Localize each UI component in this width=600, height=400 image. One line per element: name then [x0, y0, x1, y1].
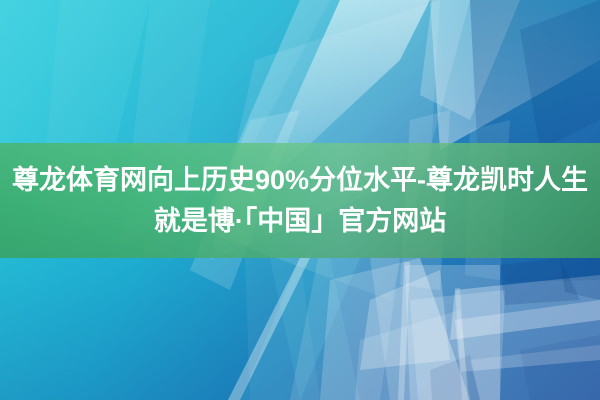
headline-text-block: 尊龙体育网向上历史90%分位水平-尊龙凯时人生 就是博·「中国」官方网站: [0, 143, 600, 258]
banner-image: 尊龙体育网向上历史90%分位水平-尊龙凯时人生 就是博·「中国」官方网站: [0, 0, 600, 400]
headline-line-1: 尊龙体育网向上历史90%分位水平-尊龙凯时人生: [12, 160, 588, 201]
headline-line-2: 就是博·「中国」官方网站: [154, 201, 447, 242]
